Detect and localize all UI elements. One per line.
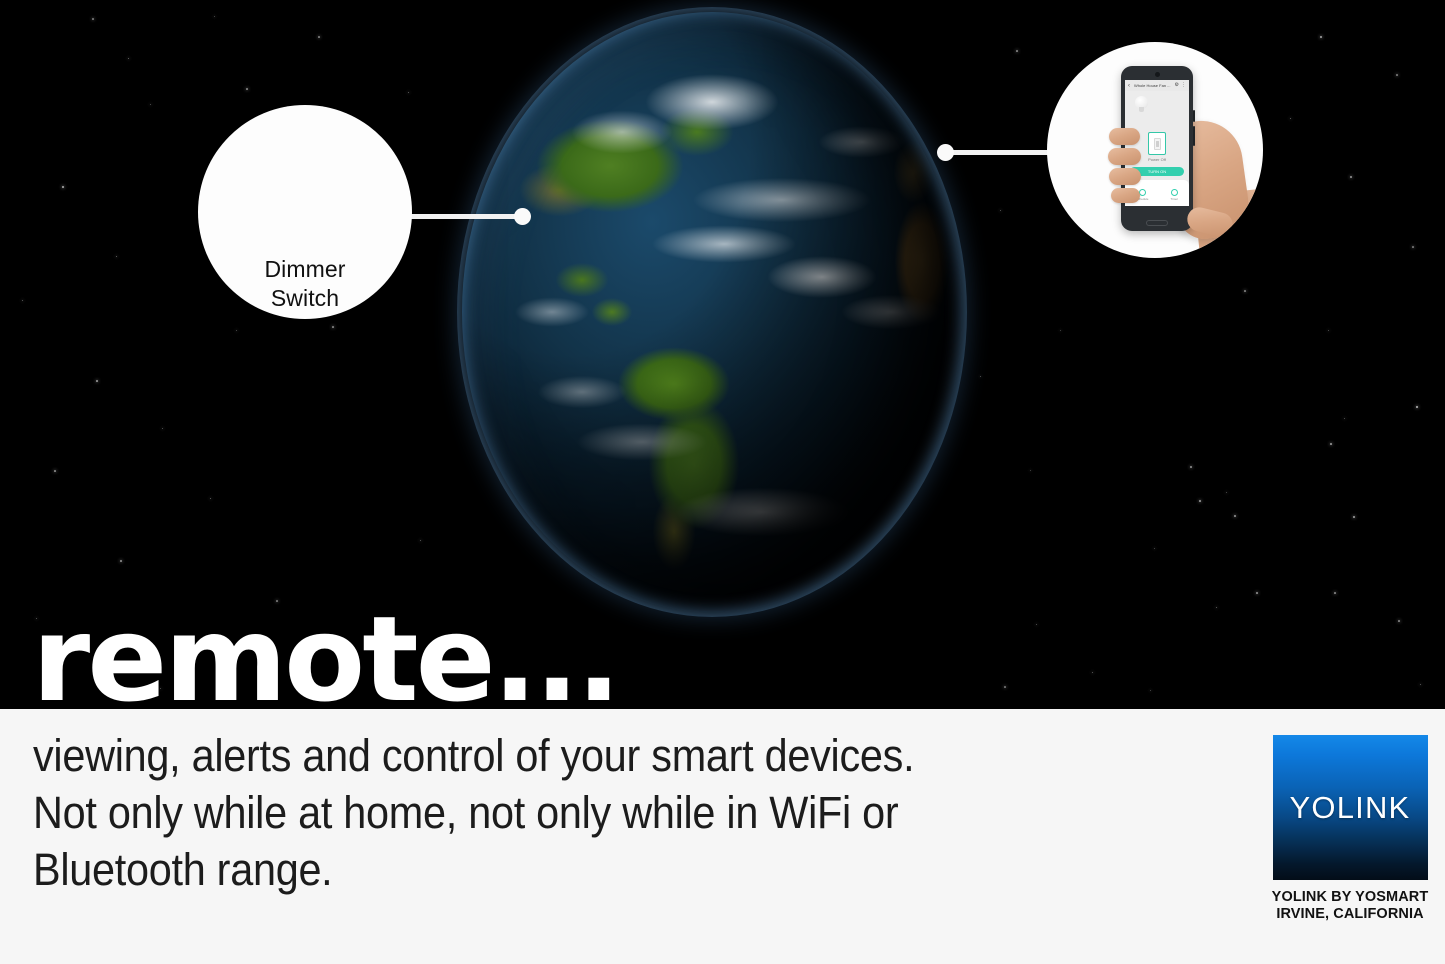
- callout-smartphone-app[interactable]: ‹ Whole House Fan ... ⚙ ⋮ Power Off TURN…: [1047, 42, 1263, 258]
- star: [420, 540, 421, 541]
- device-status-card[interactable]: [1148, 132, 1166, 155]
- body-copy-line1: viewing, alerts and control of your smar…: [33, 727, 1008, 784]
- star: [1030, 470, 1031, 471]
- star: [22, 300, 23, 301]
- phone-front-camera-icon: [1155, 72, 1160, 77]
- body-copy-line2: Not only while at home, not only while i…: [33, 784, 1008, 841]
- star: [1320, 36, 1322, 38]
- star: [1016, 50, 1018, 52]
- star: [1216, 607, 1217, 608]
- star: [980, 376, 981, 377]
- star: [1398, 620, 1400, 622]
- hand-holding-phone: ‹ Whole House Fan ... ⚙ ⋮ Power Off TURN…: [1047, 42, 1263, 258]
- star: [1353, 516, 1355, 518]
- star: [162, 428, 163, 429]
- bulb-base: [1139, 107, 1144, 112]
- app-topbar: ‹ Whole House Fan ... ⚙ ⋮: [1125, 80, 1189, 91]
- star: [1328, 330, 1329, 331]
- body-copy: viewing, alerts and control of your smar…: [33, 727, 1008, 898]
- globe-surface: [462, 12, 962, 612]
- star: [1256, 592, 1258, 594]
- app-device-title: Whole House Fan ...: [1132, 83, 1173, 88]
- star: [1036, 624, 1037, 625]
- finger-middle: [1108, 148, 1141, 165]
- star: [1412, 246, 1414, 248]
- star: [1190, 466, 1192, 468]
- phone-volume-button: [1193, 110, 1195, 122]
- star: [120, 560, 122, 562]
- phone-home-button[interactable]: [1146, 220, 1168, 226]
- star: [1226, 492, 1227, 493]
- star: [54, 470, 56, 472]
- star: [1199, 500, 1201, 502]
- star: [332, 326, 334, 328]
- star: [1330, 443, 1332, 445]
- connector-line-phone: [944, 150, 1064, 155]
- star: [62, 186, 64, 188]
- star: [214, 16, 215, 17]
- star: [1244, 290, 1246, 292]
- star: [1416, 406, 1418, 408]
- star: [408, 92, 409, 93]
- star: [246, 88, 248, 90]
- timer-icon: [1171, 189, 1178, 196]
- headline: remote...: [32, 600, 618, 718]
- yolink-logo-tile: YOLINK: [1273, 735, 1428, 880]
- star: [1060, 330, 1061, 331]
- star: [128, 58, 129, 59]
- star: [150, 104, 151, 105]
- star: [1334, 592, 1336, 594]
- star: [1234, 515, 1236, 517]
- gear-icon[interactable]: ⚙: [1175, 83, 1179, 88]
- star: [96, 380, 98, 382]
- connector-dot-dimmer: [514, 208, 531, 225]
- callout-label-dimmer: Dimmer Switch: [198, 255, 412, 313]
- callout-dimmer-switch[interactable]: Dimmer Switch: [198, 105, 412, 319]
- star: [318, 36, 320, 38]
- star: [1290, 118, 1291, 119]
- tab-timer-label: Timer: [1170, 197, 1178, 201]
- yolink-wordmark: YOLINK: [1290, 790, 1411, 826]
- tab-timer[interactable]: Timer: [1170, 189, 1178, 201]
- brand-logo-block: YOLINK YOLINK BY YOSMART IRVINE, CALIFOR…: [1271, 735, 1429, 923]
- star: [1150, 690, 1151, 691]
- finger-ring: [1109, 168, 1141, 185]
- star: [92, 18, 94, 20]
- star: [1000, 210, 1001, 211]
- callout-label-line1: Dimmer: [198, 255, 412, 284]
- finger-index: [1109, 128, 1140, 145]
- marketing-banner: Dimmer Switch ‹ Whole House Fan ... ⚙ ⋮: [0, 0, 1445, 964]
- star: [236, 330, 237, 331]
- connector-dot-phone: [937, 144, 954, 161]
- overflow-menu-icon[interactable]: ⋮: [1181, 83, 1186, 88]
- star: [1420, 684, 1421, 685]
- star: [210, 498, 211, 499]
- star: [116, 256, 117, 257]
- brand-caption-line2: IRVINE, CALIFORNIA: [1271, 906, 1429, 923]
- star: [1350, 176, 1352, 178]
- bottom-panel: viewing, alerts and control of your smar…: [0, 709, 1445, 964]
- light-bulb-icon: [1135, 96, 1148, 112]
- star: [1154, 548, 1155, 549]
- callout-label-line2: Switch: [198, 284, 412, 313]
- star: [1004, 686, 1006, 688]
- switch-graphic-icon: [1154, 138, 1161, 150]
- star: [1344, 418, 1345, 419]
- star: [1396, 74, 1398, 76]
- finger-pinky: [1111, 188, 1140, 203]
- back-arrow-icon[interactable]: ‹: [1128, 83, 1130, 89]
- body-copy-line3: Bluetooth range.: [33, 841, 1008, 898]
- phone-power-button: [1193, 126, 1195, 146]
- star: [1092, 672, 1093, 673]
- brand-caption-line1: YOLINK BY YOSMART: [1271, 889, 1429, 906]
- earth-globe: [462, 12, 974, 624]
- brand-caption: YOLINK BY YOSMART IRVINE, CALIFORNIA: [1271, 889, 1429, 923]
